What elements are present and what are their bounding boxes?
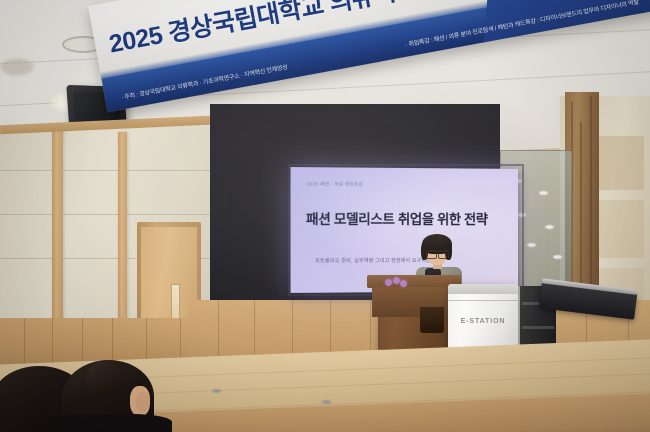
attendee-ear <box>136 392 150 412</box>
e-station-top <box>448 284 518 294</box>
slide-eyebrow: 2025 패션 · 의류 취업특강 <box>307 181 363 187</box>
slide-title: 패션 모델리스트 취업을 위한 전략 <box>306 208 488 228</box>
flower-arrangement <box>385 277 407 287</box>
wall-beam-vertical <box>52 126 63 322</box>
attendee-shoulders <box>52 414 172 432</box>
downlight-4 <box>0 58 34 76</box>
floor-inlay-1 <box>212 389 221 393</box>
attendee-hair-bun <box>86 362 122 392</box>
e-station-label: E-STATION <box>448 318 518 325</box>
e-station-seam <box>448 300 518 301</box>
eyeglasses-icon <box>426 250 449 256</box>
wall-beam-vertical-2 <box>118 132 127 322</box>
lecture-hall-photo: 2025 패션 · 의류 취업특강 패션 모델리스트 취업을 위한 전략 포트폴… <box>0 0 650 432</box>
floor-inlay-2 <box>322 400 331 404</box>
lectern-recess <box>420 307 444 333</box>
